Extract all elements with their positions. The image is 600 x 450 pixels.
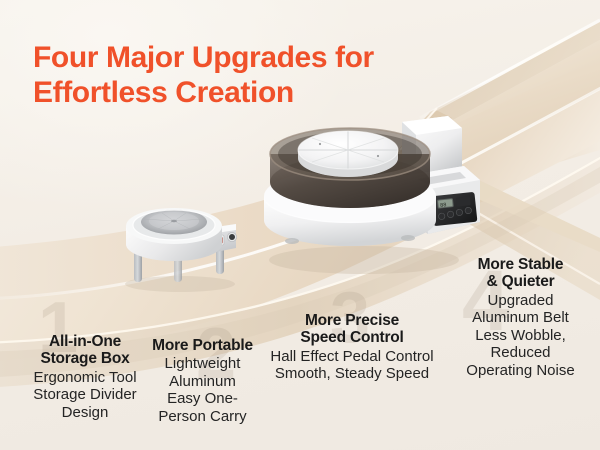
feature-stable-title: More Stable & Quieter [443,256,598,291]
feature-speed-title: More Precise Speed Control [262,312,442,347]
page-title: Four Major Upgrades for Effortless Creat… [33,40,453,110]
feature-portable: More Portable Lightweight Aluminum Easy … [135,337,270,426]
product-image-compact-wheel [112,178,257,293]
headline-line-2: Effortless Creation [33,75,453,110]
large-wheel-svg: 88 [252,110,487,280]
feature-portable-description: Lightweight Aluminum Easy One- Person Ca… [135,355,270,425]
headline-line-1: Four Major Upgrades for [33,41,374,74]
feature-stable-description: Upgraded Aluminum Belt Less Wobble, Redu… [443,292,598,380]
svg-text:88: 88 [440,202,447,209]
feature-portable-title: More Portable [135,337,270,354]
promo-banner: 1 2 3 4 Four Major Upgrades for Effortle… [0,0,600,450]
feature-stable: More Stable & Quieter Upgraded Aluminum … [443,256,598,379]
compact-wheel-svg [112,178,257,293]
feature-speed-description: Hall Effect Pedal Control Smooth, Steady… [262,348,442,383]
product-image-large-wheel: 88 [252,110,487,280]
feature-speed: More Precise Speed Control Hall Effect P… [262,312,442,383]
